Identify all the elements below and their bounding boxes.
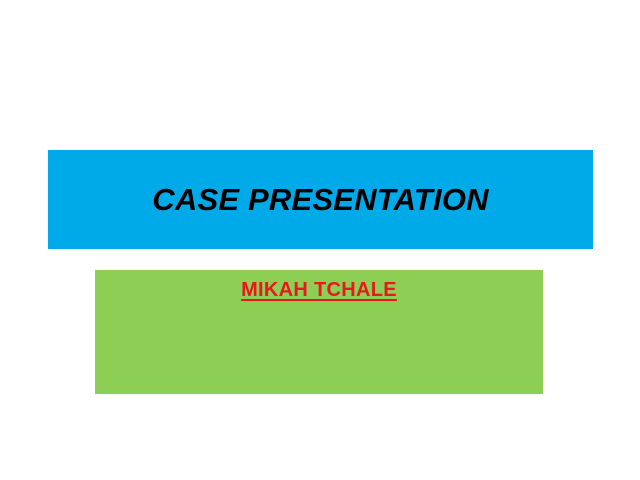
slide-title: CASE PRESENTATION <box>152 183 488 217</box>
title-banner: CASE PRESENTATION <box>48 150 593 249</box>
subtitle-banner: MIKAH TCHALE <box>95 270 543 394</box>
presenter-name: MIKAH TCHALE <box>241 278 397 303</box>
presentation-slide: CASE PRESENTATION MIKAH TCHALE <box>0 0 640 480</box>
